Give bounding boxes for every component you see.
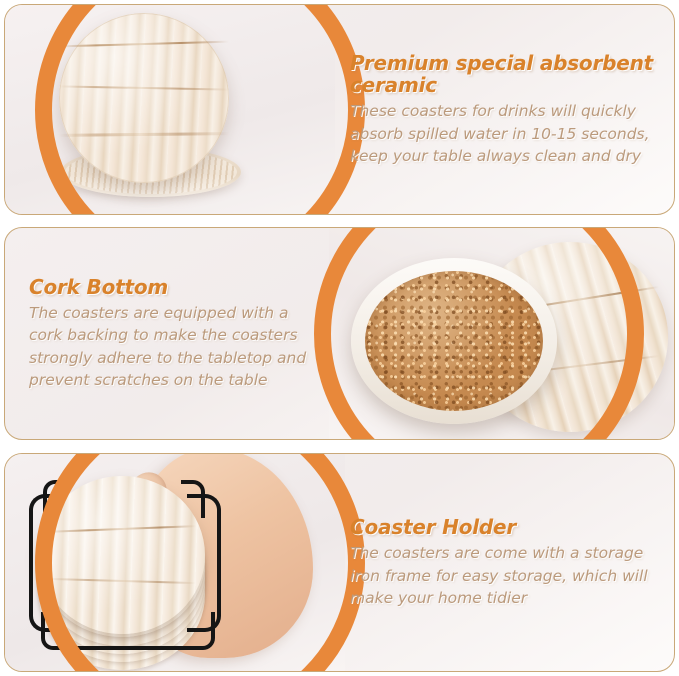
product-image-upright-coaster bbox=[5, 5, 335, 214]
feature-panel-premium-absorbent-ceramic: Premium special absorbent ceramic These … bbox=[4, 4, 675, 215]
panel-heading: Coaster Holder bbox=[350, 516, 656, 538]
feature-text-block: Premium special absorbent ceramic These … bbox=[350, 5, 656, 214]
marble-vein bbox=[59, 132, 229, 137]
coaster-flipped-showing-cork bbox=[351, 258, 557, 424]
feature-panel-coaster-holder: Coaster Holder The coasters are come wit… bbox=[4, 453, 675, 672]
iron-holder-base bbox=[41, 612, 215, 650]
feature-text-block: Coaster Holder The coasters are come wit… bbox=[350, 454, 656, 671]
marble-vein bbox=[59, 85, 229, 90]
marble-vein bbox=[59, 41, 229, 48]
feature-panel-cork-bottom: Cork Bottom The coasters are equipped wi… bbox=[4, 227, 675, 440]
panel-body-text: The coasters are come with a storage iro… bbox=[350, 542, 656, 609]
panel-heading: Premium special absorbent ceramic bbox=[350, 52, 656, 97]
panel-body-text: These coasters for drinks will quickly a… bbox=[350, 100, 656, 167]
product-image-cork-bottom bbox=[329, 228, 674, 439]
feature-text-block: Cork Bottom The coasters are equipped wi… bbox=[29, 228, 324, 439]
panel-heading: Cork Bottom bbox=[29, 276, 324, 298]
cork-backing-surface bbox=[365, 271, 543, 411]
coaster-standing-upright bbox=[59, 13, 229, 183]
product-feature-infographic: Premium special absorbent ceramic These … bbox=[0, 0, 679, 676]
product-image-coaster-holder bbox=[5, 454, 345, 671]
panel-body-text: The coasters are equipped with a cork ba… bbox=[29, 302, 324, 391]
cork-grain-texture bbox=[365, 271, 543, 411]
